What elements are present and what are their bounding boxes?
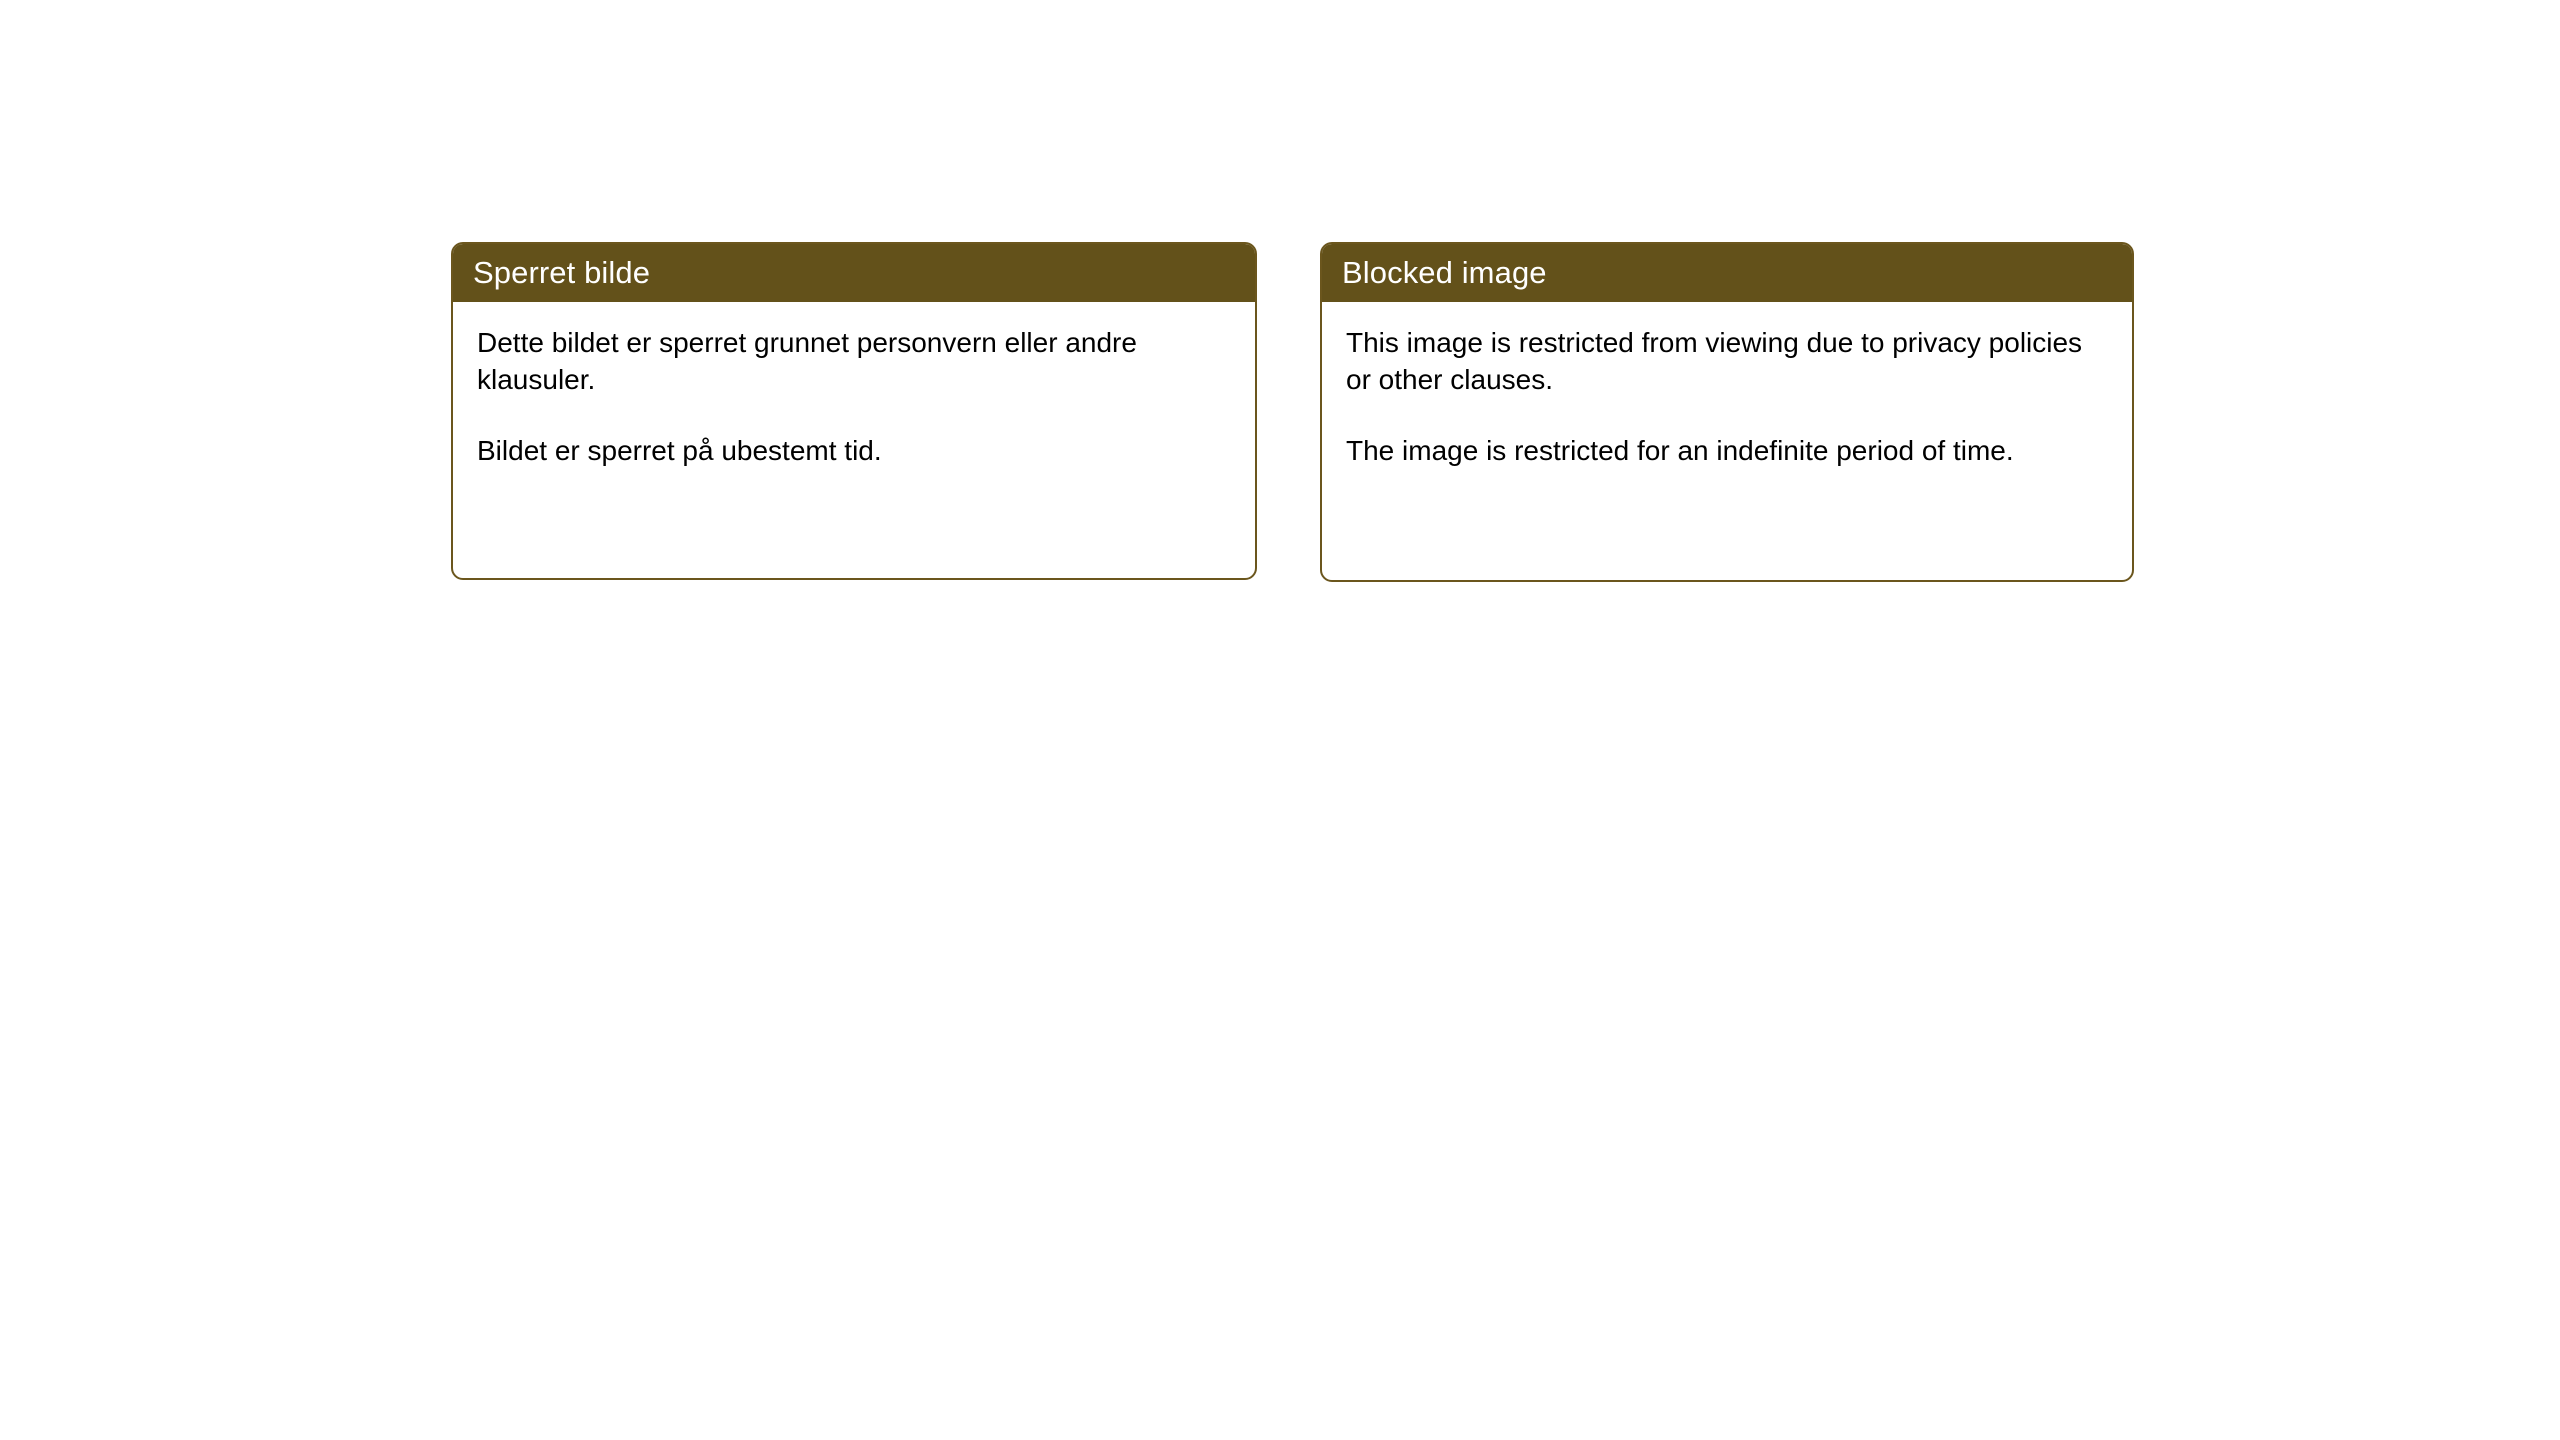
blocked-image-notice-card-english: Blocked image This image is restricted f… [1320,242,2134,582]
card-body-norwegian: Dette bildet er sperret grunnet personve… [453,302,1255,470]
blocked-image-notice-card-norwegian: Sperret bilde Dette bildet er sperret gr… [451,242,1257,580]
card-body-english: This image is restricted from viewing du… [1322,302,2132,470]
card-title-english: Blocked image [1342,257,1547,288]
page-root: Sperret bilde Dette bildet er sperret gr… [0,0,2560,1440]
card-paragraph-reason-english: This image is restricted from viewing du… [1346,324,2108,398]
card-paragraph-duration-norwegian: Bildet er sperret på ubestemt tid. [477,432,1177,469]
card-header-norwegian: Sperret bilde [451,242,1257,302]
card-header-english: Blocked image [1320,242,2134,302]
card-paragraph-reason-norwegian: Dette bildet er sperret grunnet personve… [477,324,1177,398]
card-paragraph-duration-english: The image is restricted for an indefinit… [1346,432,2108,469]
card-title-norwegian: Sperret bilde [473,257,650,288]
